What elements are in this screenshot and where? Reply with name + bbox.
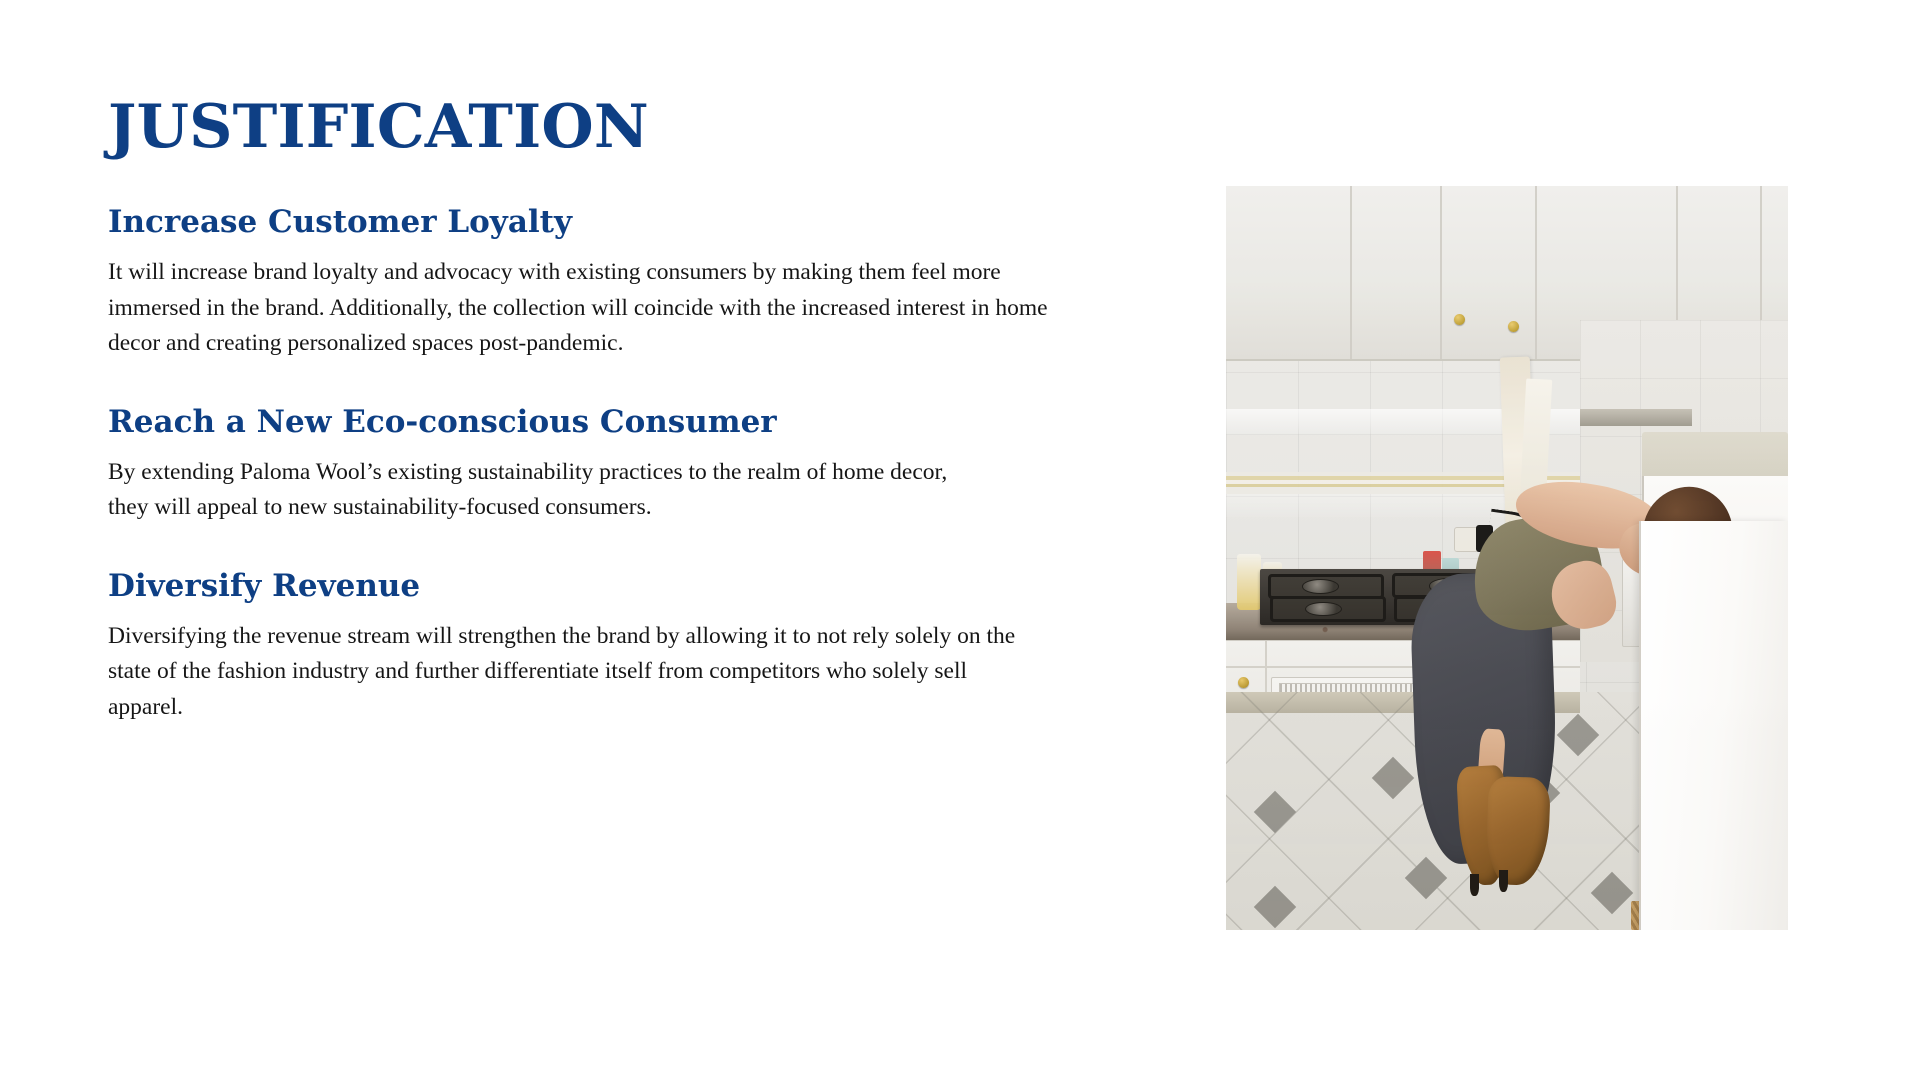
section-reach-new-eco-conscious-consumer: Reach a New Eco-conscious Consumer By ex… (108, 404, 1168, 526)
page-title: JUSTIFICATION (108, 96, 1168, 158)
section-diversify-revenue: Diversify Revenue Diversifying the reven… (108, 568, 1168, 726)
cabinet-knob-icon (1454, 314, 1465, 325)
gas-burner (1305, 602, 1342, 617)
section-body: It will increase brand loyalty and advoc… (108, 255, 1098, 362)
section-heading: Reach a New Eco-conscious Consumer (108, 404, 1168, 441)
section-increase-customer-loyalty: Increase Customer Loyalty It will increa… (108, 204, 1168, 362)
cabinet-knob-icon (1238, 677, 1249, 688)
kitchen-photograph (1226, 186, 1788, 930)
section-heading: Diversify Revenue (108, 568, 1168, 605)
cabinet-seam (1535, 186, 1537, 359)
wall-shelf (1580, 409, 1692, 425)
cabinet-knob-icon (1508, 321, 1519, 332)
text-column: JUSTIFICATION Increase Customer Loyalty … (108, 96, 1168, 726)
open-fridge-door (1639, 521, 1788, 930)
oil-cruet (1237, 554, 1261, 610)
boot-heel (1470, 874, 1479, 896)
slide-canvas: JUSTIFICATION Increase Customer Loyalty … (0, 0, 1920, 1080)
section-body: By extending Paloma Wool’s existing sust… (108, 455, 988, 526)
cabinet-seam (1440, 186, 1442, 359)
photo-scene (1226, 186, 1788, 930)
gas-burner (1302, 579, 1339, 594)
section-heading: Increase Customer Loyalty (108, 204, 1168, 241)
cabinet-seam (1350, 186, 1352, 359)
boot-heel (1499, 870, 1508, 892)
section-body: Diversifying the revenue stream will str… (108, 619, 1033, 726)
